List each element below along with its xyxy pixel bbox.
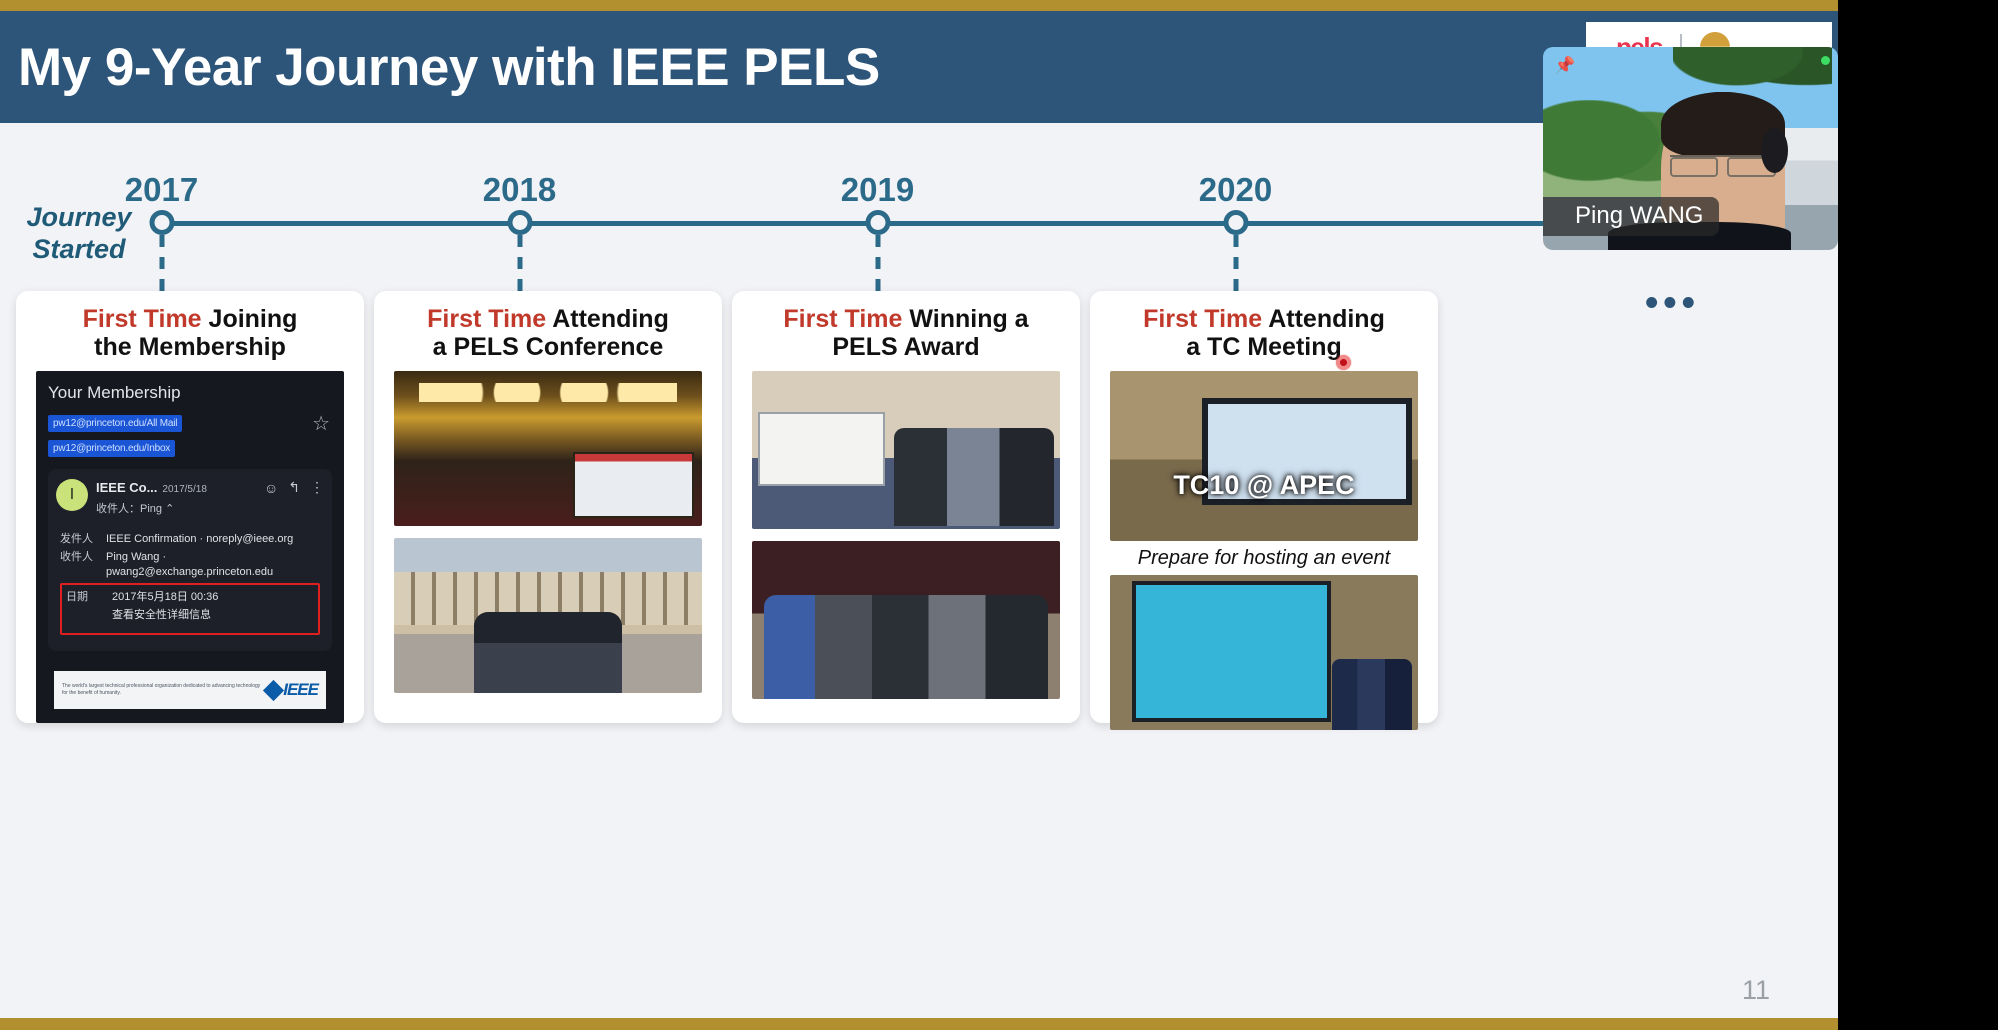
- email-detail-row: 日期 2017年5月18日 00:36: [66, 590, 314, 604]
- green-status-dot-icon: [1821, 56, 1830, 65]
- photo-conference-hall: [394, 371, 702, 526]
- card-title-rest: Winning a: [902, 305, 1028, 333]
- email-date-full: 2017年5月18日 00:36: [112, 590, 218, 604]
- slide-page-number: 11: [1742, 975, 1770, 1006]
- screen-root: My 9-Year Journey with IEEE PELS Journey…: [0, 0, 1998, 1030]
- milestone-card-tc-meeting[interactable]: First Time Attending a TC Meeting TC10 @…: [1090, 291, 1438, 723]
- glasses-icon: [1670, 155, 1776, 173]
- mouse-cursor-indicator: [1335, 354, 1352, 371]
- more-options-icon[interactable]: ⋮: [310, 479, 324, 496]
- milestone-card-membership[interactable]: First Time Joining the Membership Your M…: [16, 291, 364, 723]
- ieee-logo-text: IEEE: [283, 680, 318, 700]
- card-title-highlight: First Time: [1143, 305, 1262, 333]
- card-title-highlight: First Time: [83, 305, 202, 333]
- avatar: I: [56, 479, 88, 511]
- card-title-rest: Attending: [1262, 305, 1385, 333]
- photo-caption: Prepare for hosting an event: [1110, 547, 1418, 570]
- milestone-cards: First Time Joining the Membership Your M…: [0, 291, 1838, 726]
- timeline-year-label: 2020: [1199, 171, 1272, 209]
- photo-overlay-text: TC10 @ APEC: [1110, 470, 1418, 501]
- email-footer-banner: The world's largest technical profession…: [54, 671, 326, 709]
- email-security-link[interactable]: 查看安全性详细信息: [112, 608, 211, 622]
- timeline-year-label: 2019: [841, 171, 914, 209]
- card-title-line2: a TC Meeting: [1186, 333, 1342, 361]
- card-title-line2: PELS Award: [832, 333, 979, 361]
- timeline-marker-circle: [149, 210, 174, 235]
- email-detail-row: 查看安全性详细信息: [66, 608, 314, 622]
- card-title: First Time Winning a PELS Award: [752, 305, 1060, 361]
- email-date-short: 2017/5/18: [162, 484, 207, 495]
- ieee-tagline: The world's largest technical profession…: [62, 683, 266, 698]
- milestone-card-conference[interactable]: First Time Attending a PELS Conference: [374, 291, 722, 723]
- letterbox-right: [1838, 0, 1998, 1030]
- photo-tc10-apec: TC10 @ APEC: [1110, 371, 1418, 541]
- video-background-canopy: [1673, 47, 1832, 100]
- more-participants-ellipsis[interactable]: •••: [1645, 296, 1700, 311]
- emoji-icon[interactable]: ☺: [264, 480, 278, 496]
- timeline-marker-circle: [865, 210, 890, 235]
- email-detail-value: Ping Wang · pwang2@exchange.princeton.ed…: [106, 550, 320, 579]
- email-detail-key: [66, 608, 104, 622]
- ieee-diamond-icon: [263, 679, 284, 700]
- email-sender: IEEE Co...: [96, 480, 157, 495]
- headphone-icon: [1761, 128, 1788, 173]
- card-title: First Time Attending a PELS Conference: [394, 305, 702, 361]
- card-title: First Time Joining the Membership: [36, 305, 344, 361]
- reply-icon[interactable]: ↰: [288, 479, 300, 496]
- participant-name-label: Ping WANG: [1543, 197, 1719, 236]
- card-title-highlight: First Time: [783, 305, 902, 333]
- email-recipient-line: 收件人：Ping ⌃: [96, 500, 207, 516]
- photo-piazza-attendees: [394, 538, 702, 693]
- email-detail-key: 发件人: [60, 532, 98, 546]
- pin-icon[interactable]: 📌: [1554, 56, 1574, 76]
- email-action-icons: ☺ ↰ ⋮: [264, 479, 324, 496]
- timeline-year-label: 2018: [483, 171, 556, 209]
- card-title-rest: Joining: [202, 305, 298, 333]
- presentation-slide: My 9-Year Journey with IEEE PELS Journey…: [0, 11, 1838, 1018]
- star-icon[interactable]: ☆: [312, 411, 330, 436]
- email-detail-key: 日期: [66, 590, 104, 604]
- card-title-line2: a PELS Conference: [433, 333, 664, 361]
- timeline-year-label: 2017: [125, 171, 198, 209]
- photo-award-stage: [752, 541, 1060, 699]
- journey-started-label: Journey Started: [14, 201, 144, 266]
- email-details: 发件人 IEEE Confirmation · noreply@ieee.org…: [56, 526, 324, 641]
- photo-poster-booth: [752, 371, 1060, 529]
- timeline-marker-circle: [1223, 210, 1248, 235]
- card-title: First Time Attending a TC Meeting: [1110, 305, 1418, 361]
- email-message-card: I IEEE Co...2017/5/18 收件人：Ping ⌃ ☺ ↰ ⋮: [48, 469, 332, 651]
- participant-video-tile[interactable]: 📌 Ping WANG: [1543, 47, 1838, 250]
- journey-label-line2: Started: [14, 233, 144, 265]
- card-title-rest: Attending: [546, 305, 669, 333]
- card-title-highlight: First Time: [427, 305, 546, 333]
- highlight-box-date: 日期 2017年5月18日 00:36 查看安全性详细信息: [60, 583, 320, 636]
- email-sender-line: IEEE Co...2017/5/18: [96, 479, 207, 497]
- slide-frame-top: [0, 0, 1838, 11]
- page-title: My 9-Year Journey with IEEE PELS: [0, 37, 880, 98]
- email-subject: Your Membership: [48, 383, 332, 403]
- email-detail-row: 收件人 Ping Wang · pwang2@exchange.princeto…: [60, 550, 320, 579]
- email-detail-key: 收件人: [60, 550, 98, 579]
- timeline-marker-circle: [507, 210, 532, 235]
- email-detail-value: IEEE Confirmation · noreply@ieee.org: [106, 532, 293, 546]
- email-screenshot: Your Membership ☆ pw12@princeton.edu/All…: [36, 371, 344, 723]
- email-detail-row: 发件人 IEEE Confirmation · noreply@ieee.org: [60, 532, 320, 546]
- email-message-header: I IEEE Co...2017/5/18 收件人：Ping ⌃ ☺ ↰ ⋮: [56, 479, 324, 516]
- email-label-chip: pw12@princeton.edu/All Mail: [48, 415, 182, 432]
- milestone-card-award[interactable]: First Time Winning a PELS Award: [732, 291, 1080, 723]
- card-title-line2: the Membership: [94, 333, 286, 361]
- email-label-chip: pw12@princeton.edu/Inbox: [48, 440, 175, 457]
- slide-frame-bottom: [0, 1018, 1838, 1030]
- photo-magnet-screen: [1110, 575, 1418, 730]
- timeline-axis: [150, 221, 1750, 226]
- ieee-logo: IEEE: [266, 680, 318, 700]
